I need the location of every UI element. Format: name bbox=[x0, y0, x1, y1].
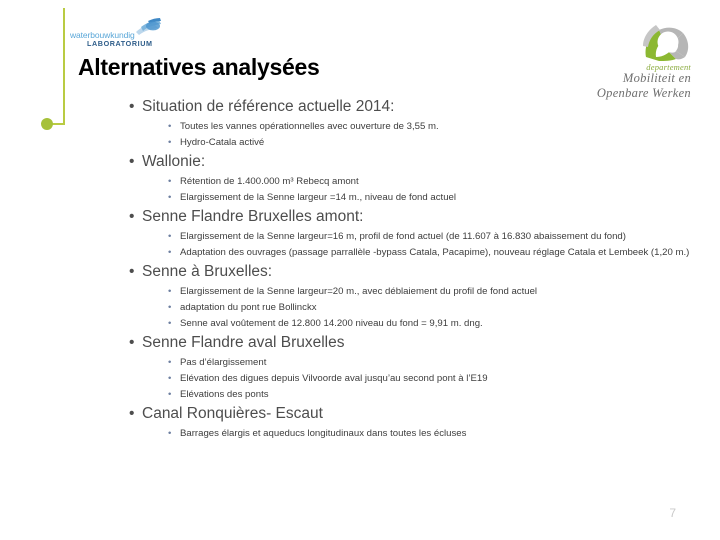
bullet-icon: • bbox=[129, 332, 134, 353]
list-item: • Hydro-Catala activé bbox=[128, 136, 694, 150]
bullet-icon: • bbox=[129, 151, 134, 172]
list-item: • Elargissement de la Senne largeur =14 … bbox=[128, 191, 694, 205]
bullet-icon: • bbox=[168, 120, 171, 134]
bullet-icon: • bbox=[168, 136, 171, 150]
list-item-label: Adaptation des ouvrages (passage parrall… bbox=[180, 247, 689, 258]
waterbouwkundig-wave-icon bbox=[132, 18, 162, 40]
mow-line-1: Mobiliteit en bbox=[623, 71, 691, 86]
bullet-icon: • bbox=[168, 230, 171, 244]
list-item-label: Elévation des digues depuis Vilvoorde av… bbox=[180, 373, 488, 384]
section-situation-de-reference: • Situation de référence actuelle 2014: … bbox=[128, 96, 694, 149]
bullet-icon: • bbox=[129, 261, 134, 282]
bullet-icon: • bbox=[168, 246, 171, 260]
section-heading: • Wallonie: bbox=[128, 151, 694, 172]
bullet-icon: • bbox=[129, 96, 134, 117]
list-item: • Senne aval voûtement de 12.800 14.200 … bbox=[128, 317, 694, 331]
list-item-label: Elargissement de la Senne largeur=16 m, … bbox=[180, 231, 626, 242]
bullet-icon: • bbox=[168, 388, 171, 402]
list-item-label: Toutes les vannes opérationnelles avec o… bbox=[180, 121, 439, 132]
presentation-slide: waterbouwkundig LABORATORIUM departement… bbox=[0, 0, 720, 540]
section-senne-a-bruxelles: • Senne à Bruxelles: • Elargissement de … bbox=[128, 261, 694, 330]
list-item: • Rétention de 1.400.000 m³ Rebecq amont bbox=[128, 175, 694, 189]
section-canal-ronquieres-escaut: • Canal Ronquières- Escaut • Barrages él… bbox=[128, 403, 694, 440]
list-item-label: Rétention de 1.400.000 m³ Rebecq amont bbox=[180, 176, 359, 187]
decorative-horizontal-line bbox=[52, 123, 65, 125]
section-senne-flandre-aval-bruxelles: • Senne Flandre aval Bruxelles • Pas d’é… bbox=[128, 332, 694, 401]
section-heading: • Senne Flandre Bruxelles amont: bbox=[128, 206, 694, 227]
section-sublist: • Barrages élargis et aqueducs longitudi… bbox=[128, 427, 694, 441]
bullet-icon: • bbox=[168, 427, 171, 441]
laboratorium-wordmark: LABORATORIUM bbox=[87, 39, 153, 48]
list-item: • Adaptation des ouvrages (passage parra… bbox=[128, 246, 694, 260]
section-heading: • Senne Flandre aval Bruxelles bbox=[128, 332, 694, 353]
waterbouwkundig-laboratorium-logo: waterbouwkundig LABORATORIUM bbox=[70, 18, 166, 48]
decorative-dot bbox=[41, 118, 53, 130]
list-item: • Elargissement de la Senne largeur=20 m… bbox=[128, 285, 694, 299]
list-item: • adaptation du pont rue Bollinckx bbox=[128, 301, 694, 315]
section-heading: • Situation de référence actuelle 2014: bbox=[128, 96, 694, 117]
list-item-label: Elargissement de la Senne largeur =14 m.… bbox=[180, 192, 456, 203]
section-sublist: • Pas d’élargissement • Elévation des di… bbox=[128, 356, 694, 402]
section-heading: • Senne à Bruxelles: bbox=[128, 261, 694, 282]
list-item-label: Pas d’élargissement bbox=[180, 357, 266, 368]
page-number: 7 bbox=[669, 506, 676, 520]
list-item-label: Elargissement de la Senne largeur=20 m.,… bbox=[180, 286, 537, 297]
section-wallonie: • Wallonie: • Rétention de 1.400.000 m³ … bbox=[128, 151, 694, 204]
bullet-icon: • bbox=[168, 301, 171, 315]
section-heading-label: Senne Flandre aval Bruxelles bbox=[142, 334, 344, 351]
list-item: • Elévations des ponts bbox=[128, 388, 694, 402]
bullet-icon: • bbox=[168, 317, 171, 331]
section-heading-label: Senne à Bruxelles: bbox=[142, 263, 272, 280]
bullet-icon: • bbox=[168, 285, 171, 299]
list-item: • Elargissement de la Senne largeur=16 m… bbox=[128, 230, 694, 244]
bullet-icon: • bbox=[168, 191, 171, 205]
bullet-icon: • bbox=[168, 372, 171, 386]
list-item: • Pas d’élargissement bbox=[128, 356, 694, 370]
section-senne-flandre-bruxelles-amont: • Senne Flandre Bruxelles amont: • Elarg… bbox=[128, 206, 694, 259]
mobiliteit-openbare-werken-logo: departement Mobiliteit en Openbare Werke… bbox=[575, 16, 705, 98]
list-item-label: Barrages élargis et aqueducs longitudina… bbox=[180, 428, 466, 439]
section-sublist: • Elargissement de la Senne largeur=20 m… bbox=[128, 285, 694, 331]
slide-body: • Situation de référence actuelle 2014: … bbox=[128, 96, 694, 442]
section-heading: • Canal Ronquières- Escaut bbox=[128, 403, 694, 424]
mow-triskelion-icon bbox=[637, 16, 695, 61]
section-heading-label: Wallonie: bbox=[142, 153, 205, 170]
list-item-label: Elévations des ponts bbox=[180, 389, 269, 400]
page-title: Alternatives analysées bbox=[78, 54, 319, 81]
list-item: • Toutes les vannes opérationnelles avec… bbox=[128, 120, 694, 134]
section-sublist: • Elargissement de la Senne largeur=16 m… bbox=[128, 230, 694, 260]
decorative-vertical-line bbox=[63, 8, 65, 125]
section-heading-label: Senne Flandre Bruxelles amont: bbox=[142, 208, 363, 225]
list-item-label: Hydro-Catala activé bbox=[180, 137, 264, 148]
section-sublist: • Rétention de 1.400.000 m³ Rebecq amont… bbox=[128, 175, 694, 205]
bullet-icon: • bbox=[129, 403, 134, 424]
section-heading-label: Situation de référence actuelle 2014: bbox=[142, 98, 394, 115]
bullet-icon: • bbox=[168, 175, 171, 189]
section-heading-label: Canal Ronquières- Escaut bbox=[142, 405, 323, 422]
list-item-label: Senne aval voûtement de 12.800 14.200 ni… bbox=[180, 318, 483, 329]
list-item-label: adaptation du pont rue Bollinckx bbox=[180, 302, 317, 313]
bullet-icon: • bbox=[129, 206, 134, 227]
section-sublist: • Toutes les vannes opérationnelles avec… bbox=[128, 120, 694, 150]
list-item: • Barrages élargis et aqueducs longitudi… bbox=[128, 427, 694, 441]
bullet-icon: • bbox=[168, 356, 171, 370]
list-item: • Elévation des digues depuis Vilvoorde … bbox=[128, 372, 694, 386]
